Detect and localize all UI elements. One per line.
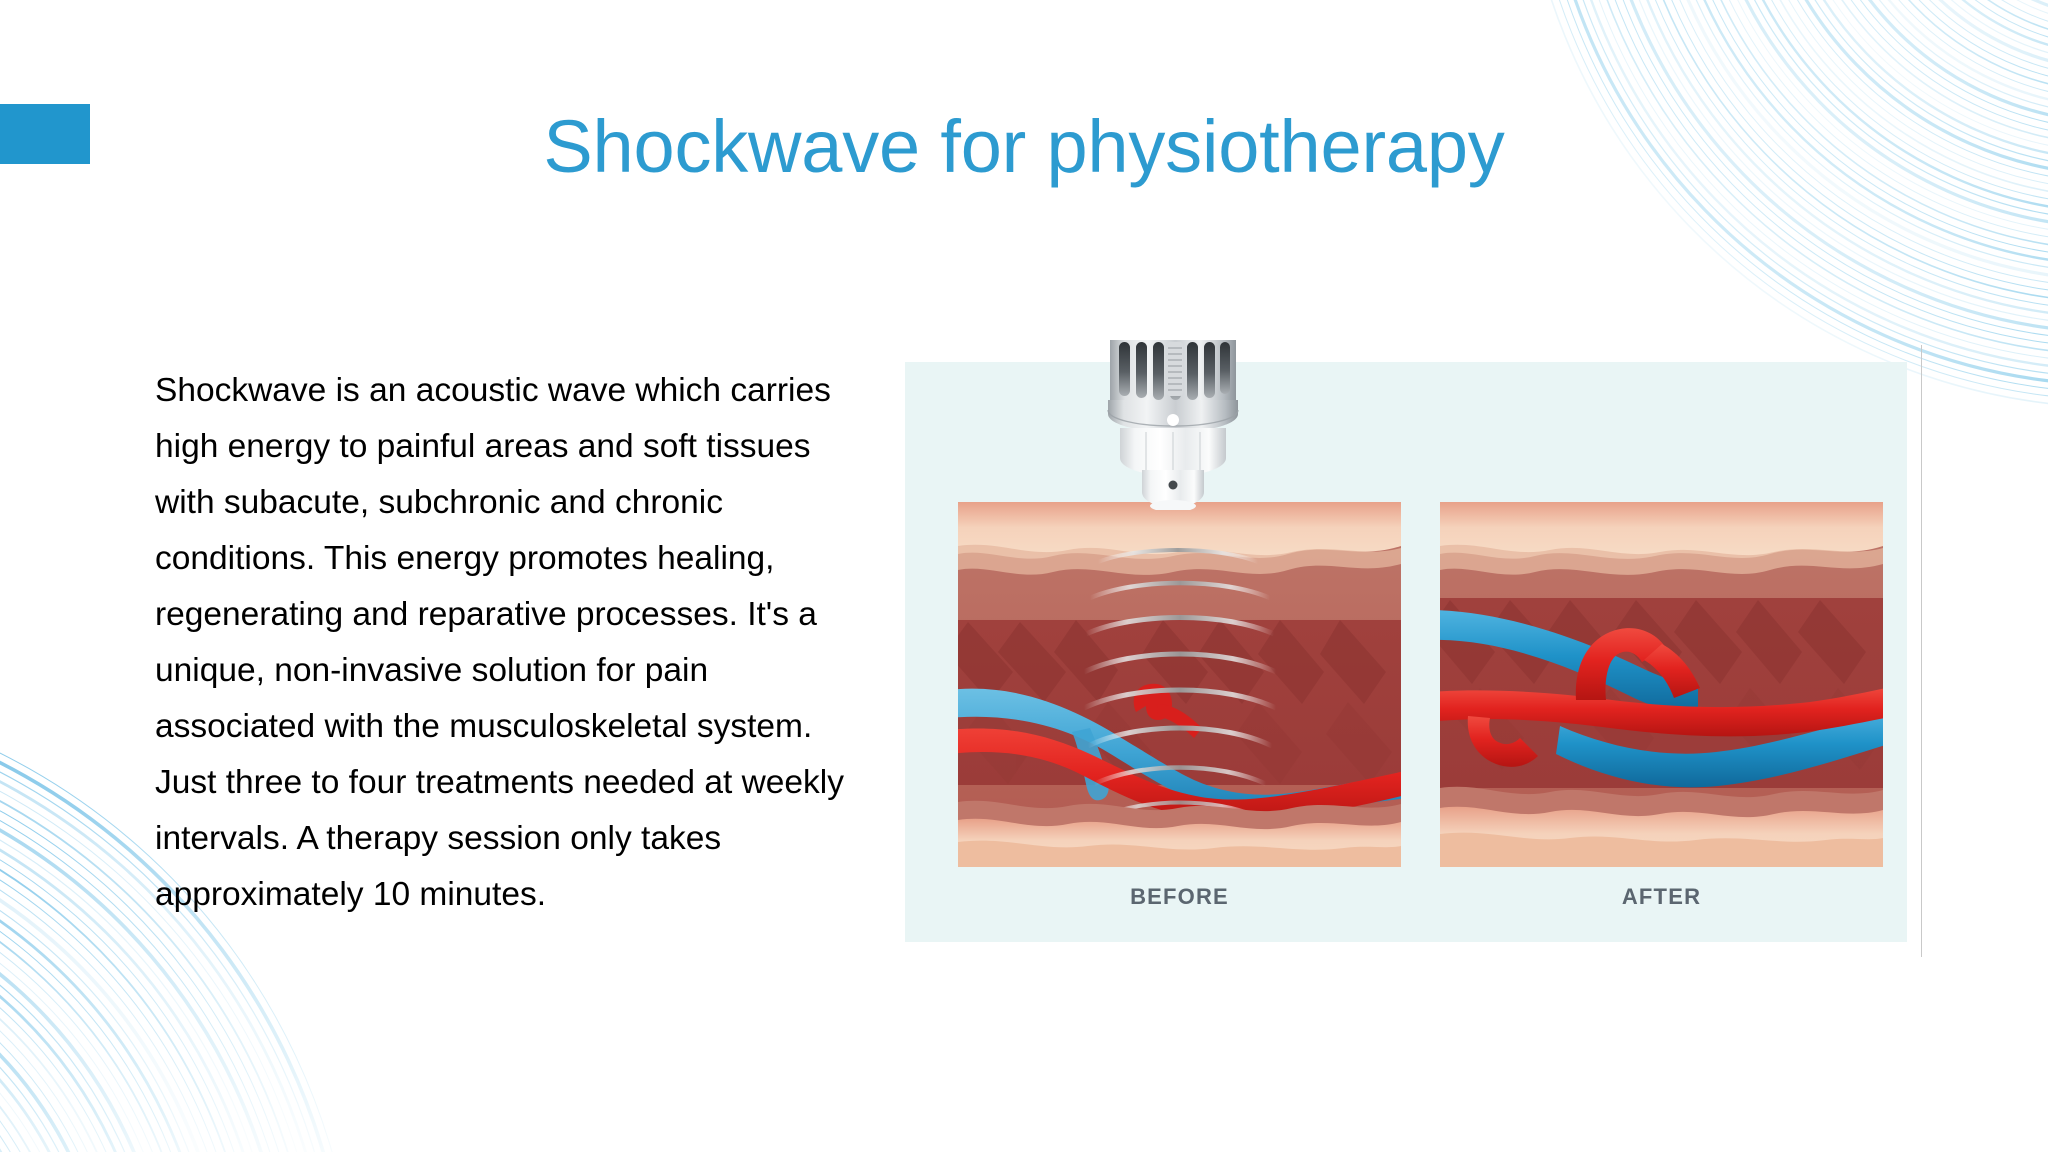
caption-before: BEFORE <box>958 884 1401 910</box>
slide-canvas: Shockwave for physiotherapy Shockwave is… <box>0 0 2048 1152</box>
figure-panel: BEFORE AFTER <box>905 362 1907 942</box>
figure-divider-rule <box>1921 345 1922 957</box>
caption-after: AFTER <box>1440 884 1883 910</box>
tissue-illustration-before <box>958 502 1401 867</box>
page-title: Shockwave for physiotherapy <box>0 108 2048 186</box>
body-paragraph: Shockwave is an acoustic wave which carr… <box>155 363 845 923</box>
shockwave-applicator-icon <box>1088 340 1258 510</box>
tissue-illustration-after <box>1440 502 1883 867</box>
